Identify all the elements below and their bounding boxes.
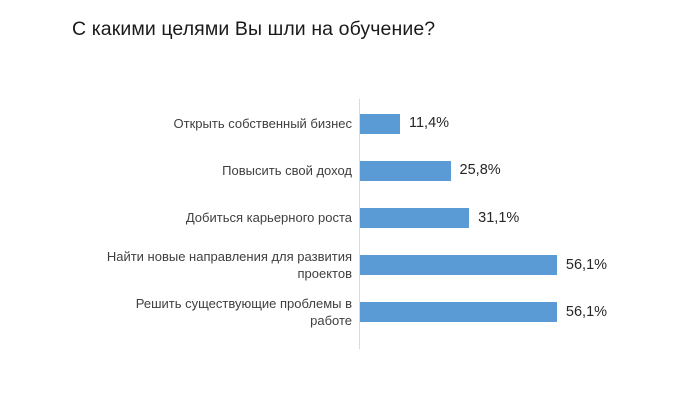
bar-row: Открыть собственный бизнес11,4%: [0, 100, 700, 147]
bar-category-label: Решить существующие проблемы в работе: [94, 289, 352, 336]
bar-category-label: Добиться карьерного роста: [94, 194, 352, 241]
bar-category-label: Найти новые направления для развития про…: [94, 242, 352, 289]
bar-value-label: 56,1%: [566, 305, 607, 320]
bar-row: Найти новые направления для развития про…: [0, 242, 700, 289]
bar-value-label: 11,4%: [409, 116, 449, 131]
bar-chart: С какими целями Вы шли на обучение? Откр…: [0, 0, 700, 408]
bar-fill[interactable]: [360, 302, 557, 322]
bar-row: Добиться карьерного роста31,1%: [0, 194, 700, 241]
plot-area: Открыть собственный бизнес11,4%Повысить …: [0, 0, 700, 408]
bar-row: Повысить свой доход25,8%: [0, 147, 700, 194]
bar-fill[interactable]: [360, 161, 451, 181]
bar-category-label: Открыть собственный бизнес: [94, 100, 352, 147]
bar-track: 56,1%: [360, 242, 607, 289]
bar-row: Решить существующие проблемы в работе56,…: [0, 289, 700, 336]
bar-fill[interactable]: [360, 255, 557, 275]
bar-fill[interactable]: [360, 114, 400, 134]
bar-value-label: 31,1%: [478, 211, 519, 226]
bar-value-label: 56,1%: [566, 258, 607, 273]
bar-track: 31,1%: [360, 194, 519, 241]
bar-track: 56,1%: [360, 289, 607, 336]
bar-track: 11,4%: [360, 100, 449, 147]
bar-fill[interactable]: [360, 208, 469, 228]
bar-category-label: Повысить свой доход: [94, 147, 352, 194]
bar-value-label: 25,8%: [460, 163, 501, 178]
bars-layer: Открыть собственный бизнес11,4%Повысить …: [0, 0, 700, 408]
bar-track: 25,8%: [360, 147, 501, 194]
